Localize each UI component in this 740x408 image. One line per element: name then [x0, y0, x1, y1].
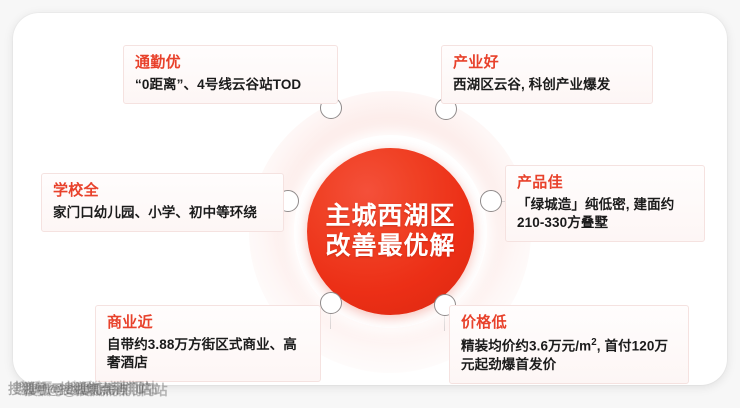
hub-title-line-2: 改善最优解 [325, 232, 455, 262]
info-box-industry: 产业好 西湖区云谷, 科创产业爆发 [441, 45, 653, 104]
info-box-product: 产品佳 「绿城造」纯低密, 建面约210-330方叠墅 [505, 165, 705, 242]
info-box-business-title: 商业近 [107, 314, 309, 333]
info-box-price-body: 精装均价约3.6万元/m2, 首付120万元起劲爆首发价 [461, 336, 677, 374]
info-box-school-body: 家门口幼儿园、小学、初中等环绕 [53, 204, 272, 222]
info-box-price-title: 价格低 [461, 314, 677, 333]
hub-title-line-1: 主城西湖区 [325, 202, 455, 232]
info-box-product-title: 产品佳 [517, 174, 693, 193]
infographic-stage: 主城西湖区 改善最优解 通勤优 “0距离”、4号线云谷站TOD 产业好 西湖区云… [0, 0, 740, 408]
hub-circle: 主城西湖区 改善最优解 [307, 148, 474, 315]
info-box-product-body: 「绿城造」纯低密, 建面约210-330方叠墅 [517, 196, 693, 233]
connector-node-bottom-left [320, 292, 342, 314]
connector-stem-bottom-left [330, 313, 331, 329]
info-box-school: 学校全 家门口幼儿园、小学、初中等环绕 [41, 173, 284, 232]
info-box-commute: 通勤优 “0距离”、4号线云谷站TOD [123, 45, 338, 104]
info-box-industry-title: 产业好 [453, 54, 641, 73]
info-box-business-body: 自带约3.88万方街区式商业、高奢酒店 [107, 336, 309, 373]
connector-node-right [480, 190, 502, 212]
connector-stem-bottom-right [444, 315, 445, 331]
info-box-price: 价格低 精装均价约3.6万元/m2, 首付120万元起劲爆首发价 [449, 305, 689, 384]
info-box-commute-title: 通勤优 [135, 54, 326, 73]
info-box-school-title: 学校全 [53, 182, 272, 201]
info-box-business: 商业近 自带约3.88万方街区式商业、高奢酒店 [95, 305, 321, 382]
infographic-card: 主城西湖区 改善最优解 通勤优 “0距离”、4号线云谷站TOD 产业好 西湖区云… [13, 13, 727, 385]
info-box-commute-body: “0距离”、4号线云谷站TOD [135, 76, 326, 94]
info-box-industry-body: 西湖区云谷, 科创产业爆发 [453, 76, 641, 94]
info-box-price-body-prefix: 精装均价约3.6万元/m [461, 338, 591, 353]
